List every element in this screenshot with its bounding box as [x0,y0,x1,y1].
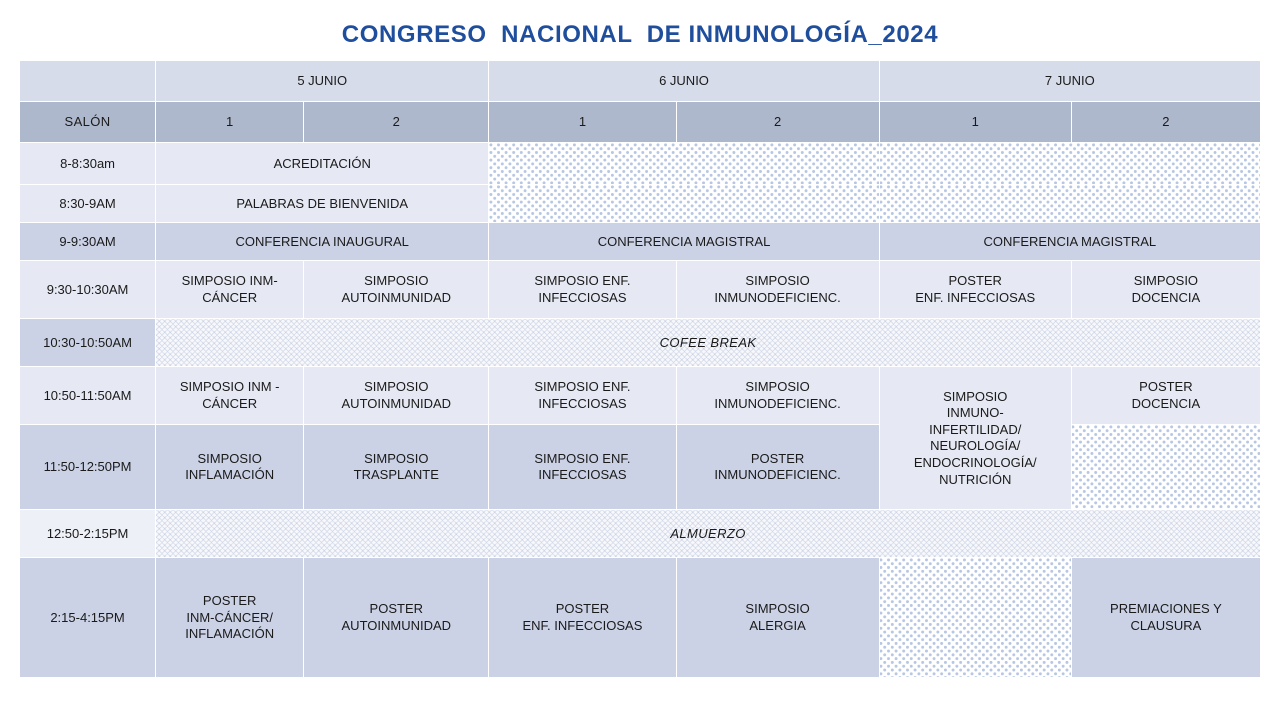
table-header-rooms: SALÓN 1 2 1 2 1 2 [20,102,1261,143]
session-simposio-enf-infecciosas-3: SIMPOSIO ENF. INFECCIOSAS [489,425,676,510]
table-row-lunch: 12:50-2:15PM ALMUERZO [20,510,1261,558]
time-label-1150-1250pm: 11:50-12:50PM [20,425,156,510]
session-conferencia-magistral-7junio: CONFERENCIA MAGISTRAL [879,223,1260,261]
header-room-6junio-1: 1 [489,102,676,143]
time-label-930-1030am: 9:30-10:30AM [20,261,156,319]
header-day-5-junio: 5 JUNIO [156,61,489,102]
page-title: CONGRESO NACIONAL DE INMUNOLOGÍA_2024 [0,0,1280,60]
header-day-7-junio: 7 JUNIO [879,61,1260,102]
time-label-9-930am: 9-9:30AM [20,223,156,261]
time-label-830-9am: 8:30-9AM [20,185,156,223]
empty-slot-dotted [489,143,879,185]
session-simposio-inmunodeficienc-2: SIMPOSIO INMUNODEFICIENC. [676,367,879,425]
session-simposio-autoinmunidad: SIMPOSIO AUTOINMUNIDAD [304,261,489,319]
session-simposio-enf-infecciosas: SIMPOSIO ENF. INFECCIOSAS [489,261,676,319]
session-palabras-bienvenida: PALABRAS DE BIENVENIDA [156,185,489,223]
session-simposio-autoinmunidad-2: SIMPOSIO AUTOINMUNIDAD [304,367,489,425]
header-day-6-junio: 6 JUNIO [489,61,879,102]
session-poster-docencia: POSTER DOCENCIA [1071,367,1260,425]
session-simposio-inflamacion: SIMPOSIO INFLAMACIÓN [156,425,304,510]
time-label-1030-1050am: 10:30-10:50AM [20,319,156,367]
header-room-7junio-1: 1 [879,102,1071,143]
session-simposio-inmuno-infertilidad-merged: SIMPOSIO INMUNO- INFERTILIDAD/ NEUROLOGÍ… [879,367,1071,510]
header-salon: SALÓN [20,102,156,143]
empty-slot-dotted [1071,425,1260,510]
session-simposio-enf-infecciosas-2: SIMPOSIO ENF. INFECCIOSAS [489,367,676,425]
empty-slot-dotted [879,185,1260,223]
time-label-1050-1150am: 10:50-11:50AM [20,367,156,425]
slide-canvas: CONGRESO NACIONAL DE INMUNOLOGÍA_2024 5 … [0,0,1280,720]
header-room-7junio-2: 2 [1071,102,1260,143]
session-simposio-alergia: SIMPOSIO ALERGIA [676,558,879,678]
schedule-table: 5 JUNIO 6 JUNIO 7 JUNIO SALÓN 1 2 1 2 1 … [19,60,1261,678]
break-cofee-break: COFEE BREAK [156,319,1261,367]
table-row: 2:15-4:15PM POSTER INM-CÁNCER/ INFLAMACI… [20,558,1261,678]
session-simposio-inm-cancer-2: SIMPOSIO INM - CÁNCER [156,367,304,425]
empty-slot-dotted [879,143,1260,185]
header-room-5junio-2: 2 [304,102,489,143]
session-conferencia-magistral-6junio: CONFERENCIA MAGISTRAL [489,223,879,261]
table-row: 8:30-9AM PALABRAS DE BIENVENIDA [20,185,1261,223]
table-header-days: 5 JUNIO 6 JUNIO 7 JUNIO [20,61,1261,102]
session-poster-autoinmunidad: POSTER AUTOINMUNIDAD [304,558,489,678]
empty-slot-dotted [489,185,879,223]
empty-slot-dotted [879,558,1071,678]
time-label-1250-215pm: 12:50-2:15PM [20,510,156,558]
table-row: 10:50-11:50AM SIMPOSIO INM - CÁNCER SIMP… [20,367,1261,425]
header-room-6junio-2: 2 [676,102,879,143]
session-simposio-inmunodeficienc: SIMPOSIO INMUNODEFICIENC. [676,261,879,319]
table-row-coffee-break: 10:30-10:50AM COFEE BREAK [20,319,1261,367]
session-poster-inmunodeficienc: POSTER INMUNODEFICIENC. [676,425,879,510]
table-row: 9-9:30AM CONFERENCIA INAUGURAL CONFERENC… [20,223,1261,261]
session-poster-enf-infecciosas-2: POSTER ENF. INFECCIOSAS [489,558,676,678]
header-corner [20,61,156,102]
time-label-215-415pm: 2:15-4:15PM [20,558,156,678]
session-simposio-inm-cancer: SIMPOSIO INM- CÁNCER [156,261,304,319]
table-row: 9:30-10:30AM SIMPOSIO INM- CÁNCER SIMPOS… [20,261,1261,319]
session-premiaciones-clausura: PREMIACIONES Y CLAUSURA [1071,558,1260,678]
session-simposio-trasplante: SIMPOSIO TRASPLANTE [304,425,489,510]
session-acreditacion: ACREDITACIÓN [156,143,489,185]
header-room-5junio-1: 1 [156,102,304,143]
table-row: 11:50-12:50PM SIMPOSIO INFLAMACIÓN SIMPO… [20,425,1261,510]
time-label-8-830am: 8-8:30am [20,143,156,185]
session-simposio-docencia: SIMPOSIO DOCENCIA [1071,261,1260,319]
break-almuerzo: ALMUERZO [156,510,1261,558]
session-conferencia-inaugural: CONFERENCIA INAUGURAL [156,223,489,261]
session-poster-inm-cancer-inflamacion: POSTER INM-CÁNCER/ INFLAMACIÓN [156,558,304,678]
session-poster-enf-infecciosas: POSTER ENF. INFECCIOSAS [879,261,1071,319]
table-row: 8-8:30am ACREDITACIÓN [20,143,1261,185]
